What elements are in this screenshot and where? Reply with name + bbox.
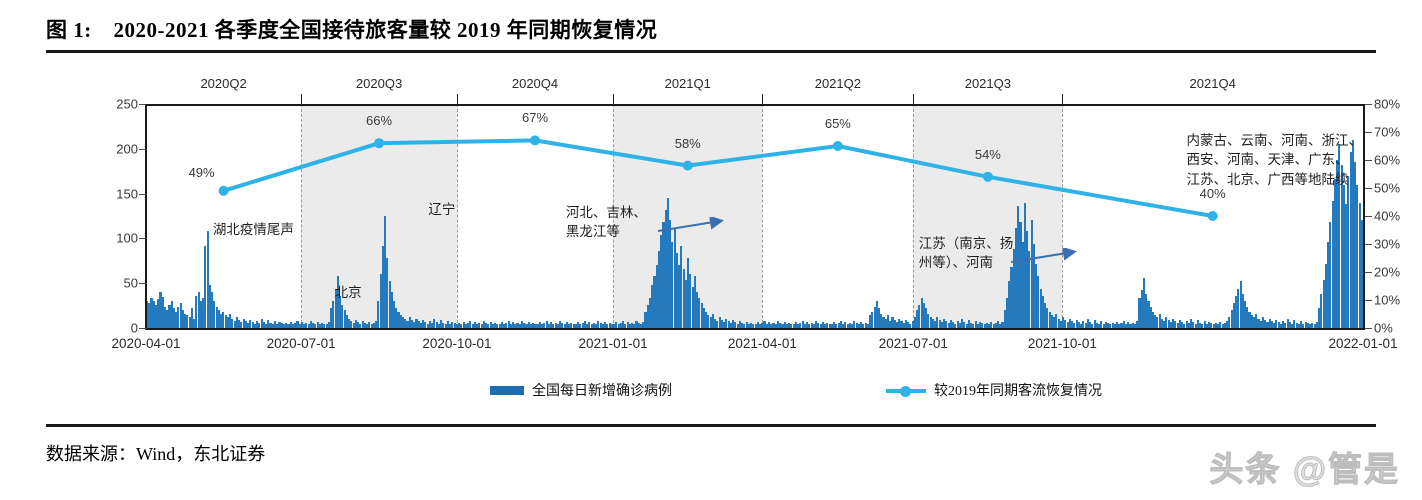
line-marker (374, 138, 384, 148)
chart-annotation: 江苏（南京、扬州等）、河南 (919, 234, 1014, 273)
y-axis-tick-left (139, 104, 146, 105)
figure-title-block: 图 1: 2020-2021 各季度全国接待旅客量较 2019 年同期恢复情况 (46, 14, 1376, 44)
chart-annotation: 北京 (335, 283, 362, 303)
y-axis-tick-right (1365, 328, 1372, 329)
legend-item-line: 较2019年同期客流恢复情况 (886, 380, 1102, 400)
annotation-line: 湖北疫情尾声 (213, 220, 294, 240)
quarter-label: 2021Q4 (1190, 76, 1236, 91)
source-note: 数据来源：Wind，东北证券 (46, 440, 265, 466)
quarter-label: 2020Q4 (512, 76, 558, 91)
legend-bar-swatch (490, 386, 524, 395)
chart-annotation: 湖北疫情尾声 (213, 220, 294, 240)
legend-bar-label: 全国每日新增确诊病例 (532, 380, 672, 400)
line-data-label: 58% (675, 136, 701, 151)
watermark: 头条 @管是 (1209, 442, 1400, 491)
y-axis-tick-label-right: 30% (1374, 237, 1400, 252)
y-axis-tick-right (1365, 216, 1372, 217)
y-axis-tick-right (1365, 244, 1372, 245)
annotation-line: 河北、吉林、 (566, 203, 647, 223)
line-data-label: 65% (825, 116, 851, 131)
y-axis-tick-left (139, 328, 146, 329)
x-axis-tick-label: 2020-10-01 (422, 336, 491, 351)
y-axis-tick-label-right: 50% (1374, 181, 1400, 196)
y-axis-tick-left (139, 149, 146, 150)
quarter-label: 2021Q3 (965, 76, 1011, 91)
line-marker (983, 172, 993, 182)
quarter-label: 2021Q1 (665, 76, 711, 91)
y-axis-tick-label-right: 40% (1374, 209, 1400, 224)
recovery-line (224, 140, 1213, 216)
annotation-arrow (1011, 248, 1111, 272)
line-data-label: 66% (366, 113, 392, 128)
y-axis-tick-right (1365, 160, 1372, 161)
y-axis-tick-right (1365, 272, 1372, 273)
top-axis-line (146, 104, 1364, 106)
y-axis-tick-label-left: 0 (86, 321, 138, 336)
quarter-label: 2020Q3 (356, 76, 402, 91)
x-axis-tick-label: 2020-04-01 (111, 336, 180, 351)
legend-line-swatch (886, 384, 926, 396)
y-axis-tick-right (1365, 188, 1372, 189)
y-axis-tick-left (139, 238, 146, 239)
line-marker (833, 141, 843, 151)
y-axis-tick-label-left: 200 (86, 141, 138, 156)
legend-item-bar: 全国每日新增确诊病例 (490, 380, 672, 400)
bottom-axis-line (146, 328, 1364, 330)
y-axis-tick-left (139, 283, 146, 284)
quarter-label: 2021Q2 (815, 76, 861, 91)
y-axis-tick-label-right: 10% (1374, 293, 1400, 308)
line-marker (683, 161, 693, 171)
y-axis-tick-label-left: 100 (86, 231, 138, 246)
annotation-line: 西安、河南、天津、广东、 (1187, 150, 1363, 170)
quarter-tick (913, 94, 914, 104)
y-axis-tick-label-left: 50 (86, 276, 138, 291)
annotation-line: 江苏（南京、扬 (919, 234, 1014, 254)
y-axis-tick-right (1365, 104, 1372, 105)
figure-label: 图 1: (46, 18, 92, 42)
x-axis-tick-label: 2021-10-01 (1028, 336, 1097, 351)
legend-line-label: 较2019年同期客流恢复情况 (934, 380, 1102, 400)
annotation-line: 黑龙江等 (566, 222, 647, 242)
x-axis-tick-label: 2020-07-01 (267, 336, 336, 351)
y-axis-tick-right (1365, 132, 1372, 133)
line-marker (530, 135, 540, 145)
annotation-arrow (658, 217, 758, 241)
y-axis-tick-right (1365, 300, 1372, 301)
x-axis-tick-label: 2021-07-01 (879, 336, 948, 351)
quarter-tick (1062, 94, 1063, 104)
y-axis-tick-label-right: 60% (1374, 153, 1400, 168)
chart-legend: 全国每日新增确诊病例 较2019年同期客流恢复情况 (46, 378, 1376, 404)
figure-page: 图 1: 2020-2021 各季度全国接待旅客量较 2019 年同期恢复情况 … (0, 0, 1422, 500)
quarter-label: 2020Q2 (200, 76, 246, 91)
annotation-line: 辽宁 (428, 200, 455, 220)
line-marker (219, 186, 229, 196)
y-axis-tick-label-right: 70% (1374, 125, 1400, 140)
y-axis-tick-label-right: 80% (1374, 97, 1400, 112)
x-axis-tick-label: 2021-04-01 (728, 336, 797, 351)
line-marker (1208, 211, 1218, 221)
chart-annotation: 河北、吉林、黑龙江等 (566, 203, 647, 242)
page-title: 图 1: 2020-2021 各季度全国接待旅客量较 2019 年同期恢复情况 (46, 14, 1376, 44)
chart-annotation: 辽宁 (428, 200, 455, 220)
quarter-tick (613, 94, 614, 104)
quarter-tick (301, 94, 302, 104)
chart-annotation: 内蒙古、云南、河南、浙江、西安、河南、天津、广东、江苏、北京、广西等地陆续 (1187, 131, 1363, 190)
title-divider (46, 50, 1376, 53)
right-axis-line (1363, 104, 1365, 330)
line-data-label: 67% (522, 110, 548, 125)
x-axis-tick-label: 2022-01-01 (1328, 336, 1397, 351)
quarter-tick (457, 94, 458, 104)
y-axis-tick-label-left: 250 (86, 97, 138, 112)
figure-title-text: 2020-2021 各季度全国接待旅客量较 2019 年同期恢复情况 (114, 18, 658, 42)
y-axis-tick-left (139, 194, 146, 195)
left-axis-line (145, 104, 147, 330)
annotation-line: 江苏、北京、广西等地陆续 (1187, 170, 1363, 190)
annotation-line: 州等）、河南 (919, 253, 1014, 273)
y-axis-tick-label-left: 150 (86, 186, 138, 201)
chart-container: 2020Q22020Q32020Q42021Q12021Q22021Q32021… (46, 68, 1376, 368)
y-axis-tick-label-right: 0% (1374, 321, 1393, 336)
annotation-line: 内蒙古、云南、河南、浙江、 (1187, 131, 1363, 151)
line-data-label: 49% (189, 165, 215, 180)
line-data-label: 54% (975, 147, 1001, 162)
y-axis-tick-label-right: 20% (1374, 265, 1400, 280)
annotation-line: 北京 (335, 283, 362, 303)
quarter-tick (762, 94, 763, 104)
x-axis-tick-label: 2021-01-01 (579, 336, 648, 351)
footer-divider (46, 424, 1376, 427)
